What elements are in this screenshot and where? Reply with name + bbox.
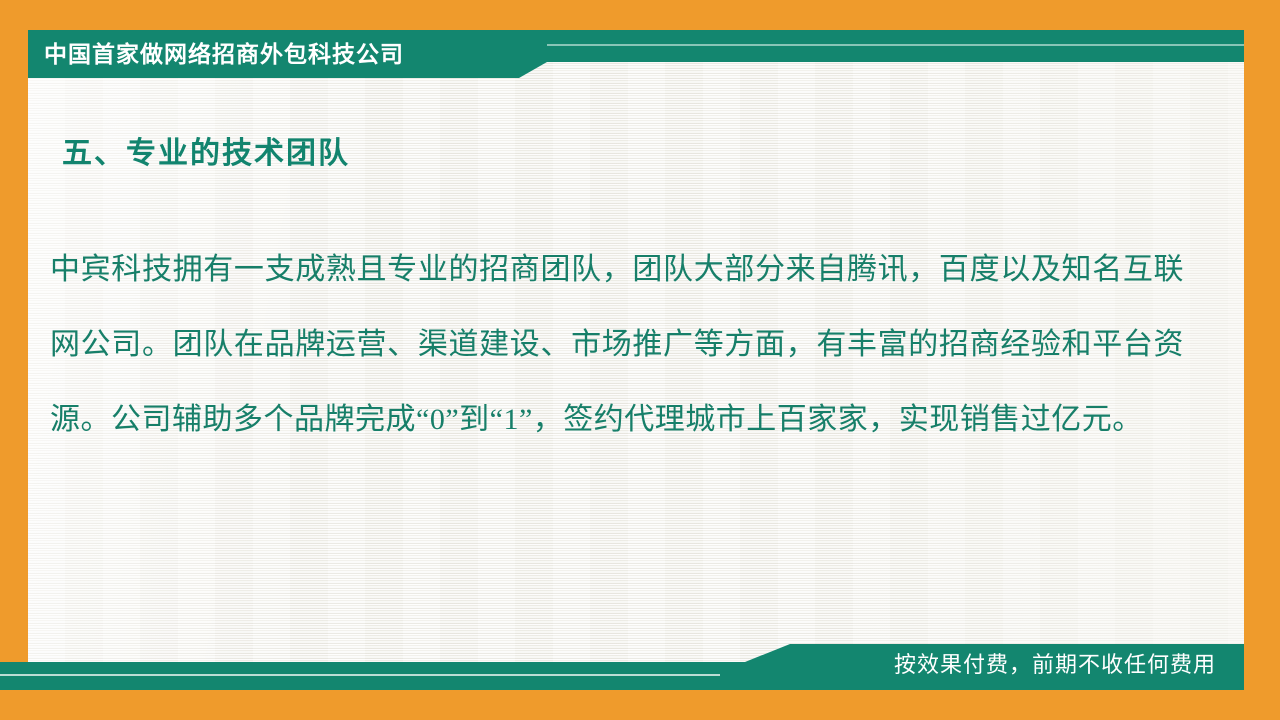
footer-slogan: 按效果付费，前期不收任何费用	[894, 648, 1216, 682]
header-title: 中国首家做网络招商外包科技公司	[44, 38, 404, 70]
slide-canvas: 中国首家做网络招商外包科技公司 五、专业的技术团队 中宾科技拥有一支成熟且专业的…	[0, 0, 1280, 720]
footer-hairline-accent	[0, 674, 720, 676]
section-heading: 五、专业的技术团队	[62, 134, 350, 174]
body-copy: 中宾科技拥有一支成熟且专业的招商团队，团队大部分来自腾讯，百度以及知名互联网公司…	[50, 232, 1184, 457]
header-hairline-accent	[547, 44, 1244, 46]
body-paragraph: 中宾科技拥有一支成熟且专业的招商团队，团队大部分来自腾讯，百度以及知名互联网公司…	[50, 232, 1184, 457]
